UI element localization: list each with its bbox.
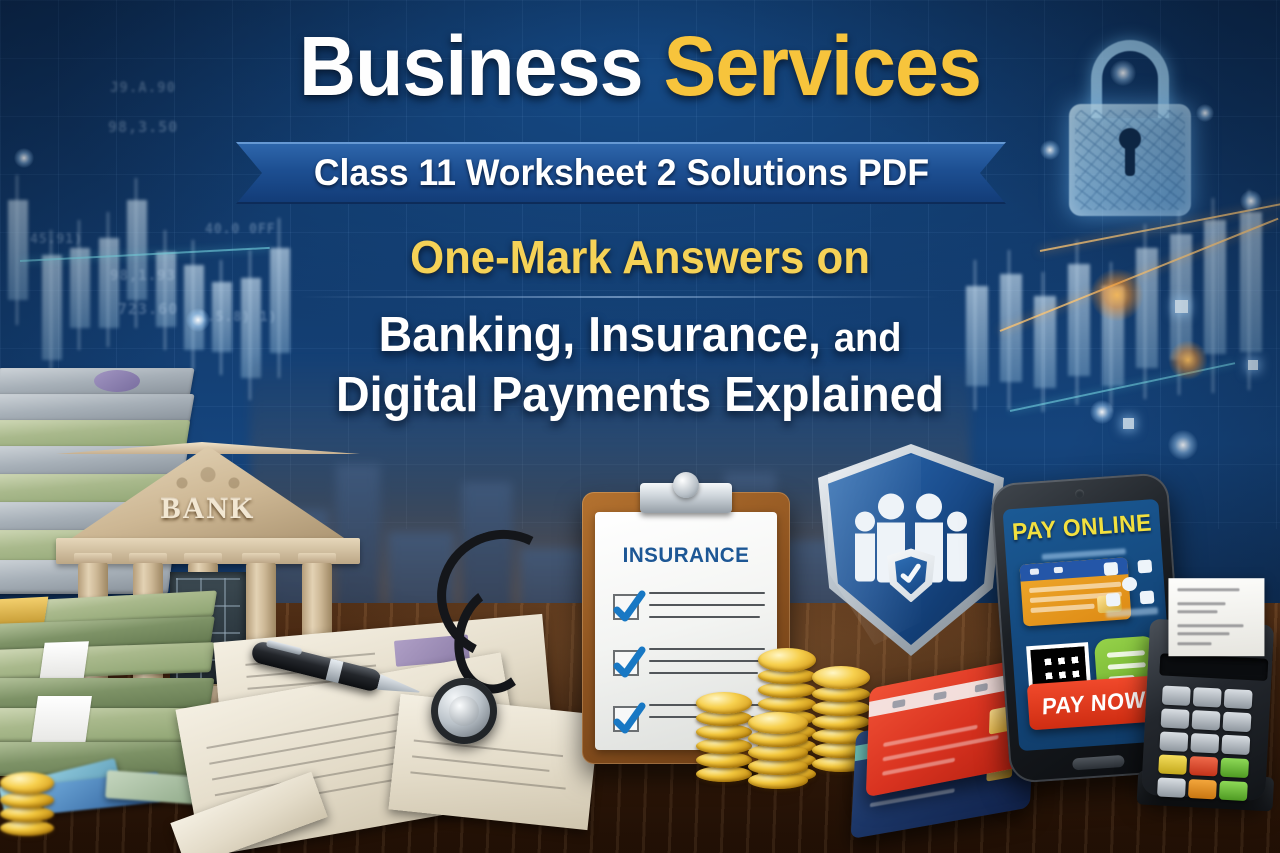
stethoscope-icon [415,520,595,750]
gold-coins-icon [748,712,808,792]
check-icon [613,594,639,620]
title-part-white: Business [299,19,643,113]
ribbon-banner: Class 11 Worksheet 2 Solutions PDF [236,142,1006,204]
pos-terminal-icon [1137,593,1280,812]
checklist-item [613,590,765,644]
gold-coins-icon [696,690,752,786]
page-title: Business Services [38,24,1241,110]
subtitle-white-line2: Digital Payments Explained [32,367,1248,423]
subtitle-line1-main: Banking, Insurance, [379,308,821,362]
subtitle-white-line1: Banking, Insurance, and [32,307,1248,363]
subtitle-divider [300,296,940,298]
subtitle-gold: One-Mark Answers on [32,230,1248,284]
title-part-gold: Services [664,19,981,113]
check-icon [613,706,639,732]
subtitle-line1-tail: and [834,316,902,360]
family-shield-icon [818,444,1004,656]
bank-building-label: BANK [66,492,350,526]
receipt-slip [1168,578,1264,656]
pay-now-label: PAY NOW [1042,686,1146,720]
gold-coins-icon [0,770,54,840]
clipboard-title: INSURANCE [597,544,775,568]
poster-canvas: 98,3.50 J9.A.90 723.60 98,1.93 1.5.8) 1)… [0,0,1280,853]
check-icon [613,650,639,676]
ribbon-label: Class 11 Worksheet 2 Solutions PDF [313,152,928,194]
